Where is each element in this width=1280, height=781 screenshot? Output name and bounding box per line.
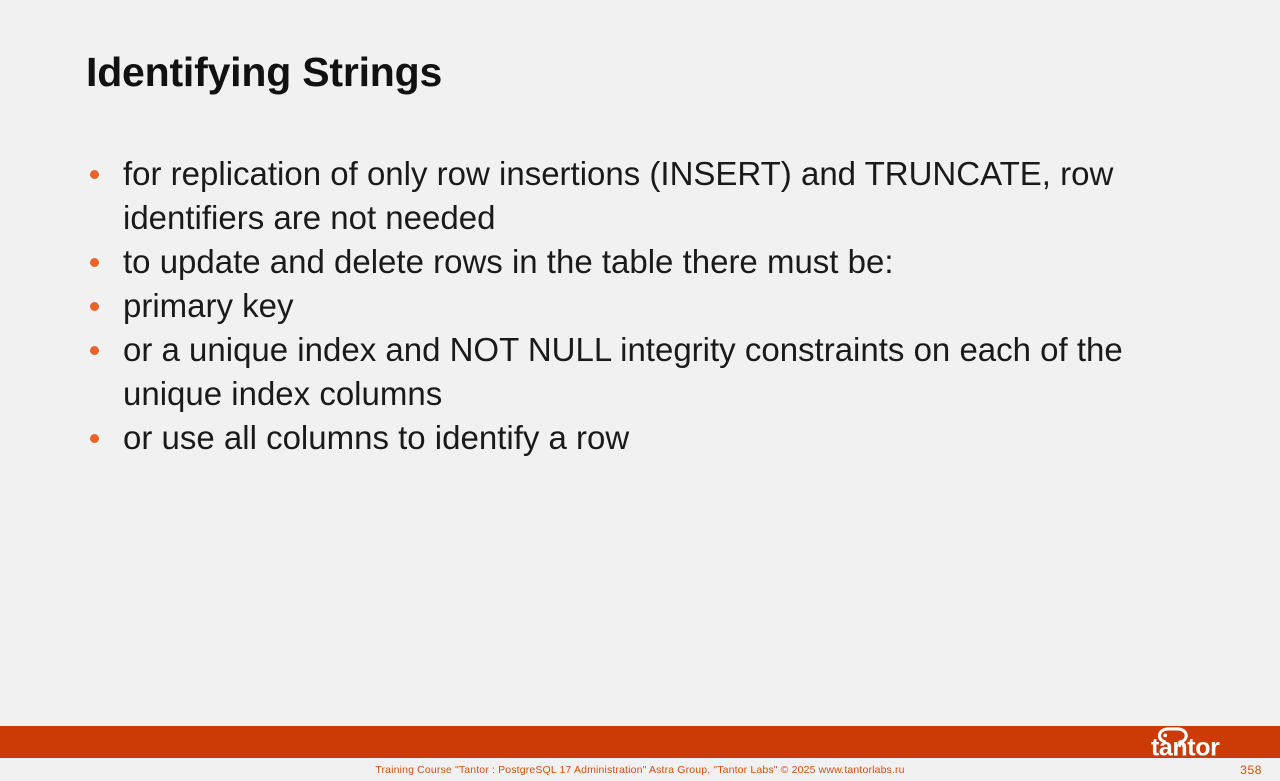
- list-item-label: or use all columns to identify a row: [123, 416, 1206, 460]
- list-item: or a unique index and NOT NULL integrity…: [86, 328, 1206, 416]
- list-item-label: for replication of only row insertions (…: [123, 152, 1206, 240]
- list-item: or use all columns to identify a row: [86, 416, 1206, 460]
- bullet-dot-icon: [90, 346, 99, 355]
- bullet-dot-icon: [90, 434, 99, 443]
- list-item: primary key: [86, 284, 1206, 328]
- list-item: for replication of only row insertions (…: [86, 152, 1206, 240]
- bullet-dot-icon: [90, 258, 99, 267]
- tantor-logo: tantor: [1137, 726, 1262, 758]
- bullet-dot-icon: [90, 302, 99, 311]
- tantor-wordmark: tantor: [1151, 734, 1220, 759]
- slide: Identifying Strings for replication of o…: [0, 0, 1280, 781]
- tantor-elephant-icon: tantor: [1137, 726, 1262, 758]
- list-item-label: to update and delete rows in the table t…: [123, 240, 1206, 284]
- bullet-dot-icon: [90, 170, 99, 179]
- footer-credit: Training Course "Tantor : PostgreSQL 17 …: [0, 764, 1280, 776]
- page-title: Identifying Strings: [86, 52, 442, 93]
- list-item-label: or a unique index and NOT NULL integrity…: [123, 328, 1206, 416]
- bullet-list: for replication of only row insertions (…: [86, 152, 1206, 460]
- list-item: to update and delete rows in the table t…: [86, 240, 1206, 284]
- page-number: 358: [1240, 763, 1262, 777]
- footer-bar: [0, 726, 1280, 758]
- list-item-label: primary key: [123, 284, 1206, 328]
